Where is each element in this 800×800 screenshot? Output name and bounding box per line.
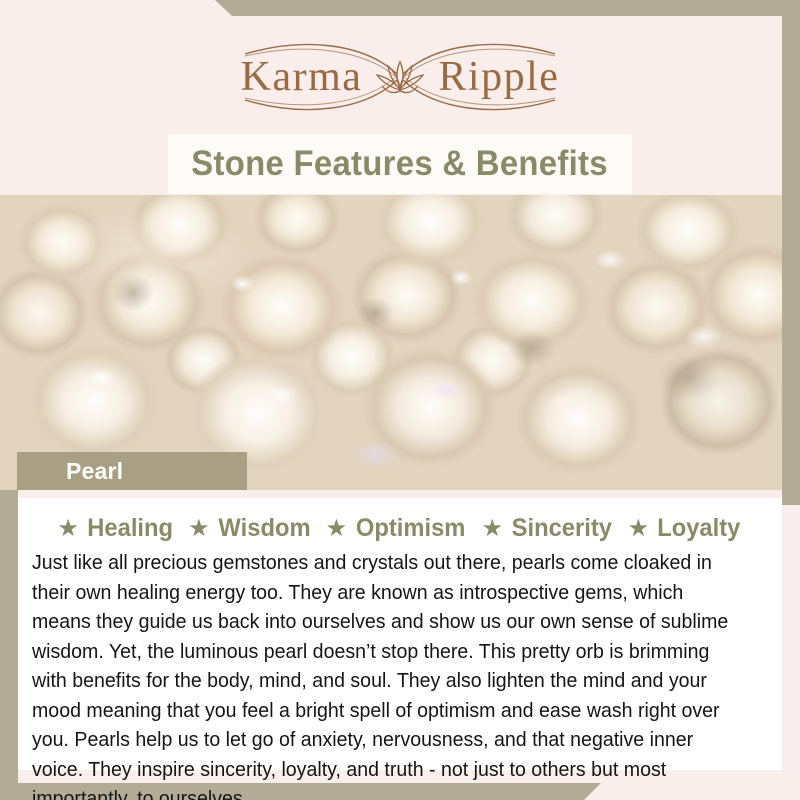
benefit-label: Wisdom bbox=[218, 514, 310, 543]
content-panel: ★ Healing ★ Wisdom ★ Optimism ★ Sincerit… bbox=[18, 498, 782, 770]
benefit-label: Loyalty bbox=[657, 514, 740, 543]
benefit-label: Healing bbox=[87, 514, 173, 543]
star-icon: ★ bbox=[481, 517, 503, 541]
star-icon: ★ bbox=[326, 517, 348, 541]
page-title: Stone Features & Benefits bbox=[192, 144, 609, 184]
page-title-band: Stone Features & Benefits bbox=[168, 134, 632, 194]
benefits-list: ★ Healing ★ Wisdom ★ Optimism ★ Sincerit… bbox=[18, 498, 782, 543]
pearl-photo-highlights bbox=[0, 195, 782, 490]
stone-benefits-infographic: Karma Ripple Stone Features & Benefits P… bbox=[0, 0, 800, 800]
benefit-label: Sincerity bbox=[512, 514, 612, 543]
star-icon: ★ bbox=[57, 517, 79, 541]
brand-word-right: Ripple bbox=[438, 53, 559, 101]
benefit-item-sincerity: ★ Sincerity bbox=[481, 514, 614, 543]
frame-top-accent bbox=[0, 0, 800, 16]
brand-word-left: Karma bbox=[241, 53, 363, 101]
stone-name: Pearl bbox=[66, 458, 123, 485]
benefit-label: Optimism bbox=[356, 514, 466, 543]
benefit-item-optimism: ★ Optimism bbox=[326, 514, 469, 543]
brand-logo: Karma Ripple bbox=[0, 34, 800, 120]
stone-description: Just like all precious gemstones and cry… bbox=[32, 549, 742, 800]
star-icon: ★ bbox=[628, 517, 650, 541]
benefit-item-wisdom: ★ Wisdom bbox=[188, 514, 313, 543]
frame-left-accent bbox=[0, 490, 18, 800]
lotus-icon bbox=[372, 56, 428, 98]
star-icon: ★ bbox=[188, 517, 210, 541]
pearl-photo bbox=[0, 195, 782, 490]
stone-name-badge: Pearl bbox=[17, 452, 247, 490]
benefit-item-loyalty: ★ Loyalty bbox=[628, 514, 743, 543]
benefit-item-healing: ★ Healing bbox=[57, 514, 175, 543]
